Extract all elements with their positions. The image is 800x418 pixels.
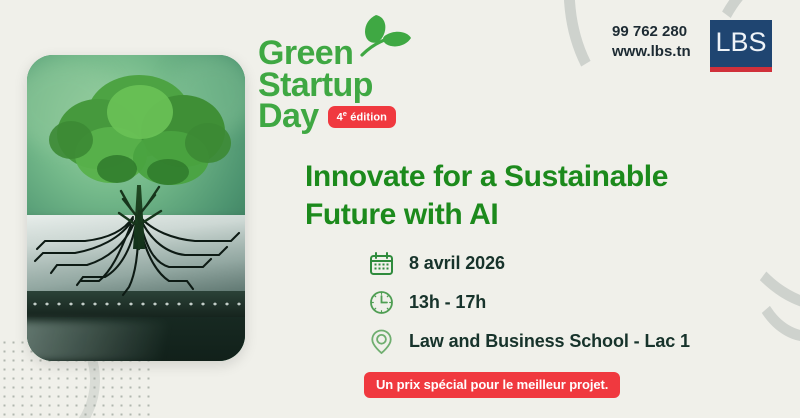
clock-icon xyxy=(368,289,395,316)
detail-row-location: Law and Business School - Lac 1 xyxy=(368,328,690,355)
detail-row-time: 13h - 17h xyxy=(368,289,690,316)
event-date: 8 avril 2026 xyxy=(409,253,505,274)
phone-number[interactable]: 99 762 280 xyxy=(612,22,691,42)
logo-line-day: Day xyxy=(258,101,319,133)
detail-row-date: 8 avril 2026 xyxy=(368,250,690,277)
tree-illustration xyxy=(45,73,231,263)
event-details: 8 avril 2026 13h - 17h Law and Business xyxy=(368,250,690,367)
edition-word: édition xyxy=(347,112,387,124)
event-location: Law and Business School - Lac 1 xyxy=(409,331,690,352)
calendar-icon xyxy=(368,250,395,277)
tree-branches xyxy=(97,157,181,253)
page-title: Innovate for a Sustainable Future with A… xyxy=(305,158,755,235)
edition-badge: 4e édition xyxy=(328,106,396,128)
prize-banner: Un prix spécial pour le meilleur projet. xyxy=(364,372,620,398)
location-pin-icon xyxy=(368,328,395,355)
tree-circuit-photo xyxy=(27,55,245,361)
photo-inner xyxy=(27,55,245,361)
event-logo: Green Startup Day 4e édition xyxy=(258,38,396,133)
lbs-logo-text: LBS xyxy=(715,29,766,56)
board-reflection xyxy=(27,321,245,361)
leaf-icon xyxy=(356,11,414,57)
contact-info: 99 762 280 www.lbs.tn xyxy=(612,22,691,63)
website-url[interactable]: www.lbs.tn xyxy=(612,42,691,62)
event-poster: Green Startup Day 4e édition 99 762 280 … xyxy=(0,0,800,418)
lbs-logo: LBS xyxy=(710,20,772,72)
event-time: 13h - 17h xyxy=(409,292,486,313)
